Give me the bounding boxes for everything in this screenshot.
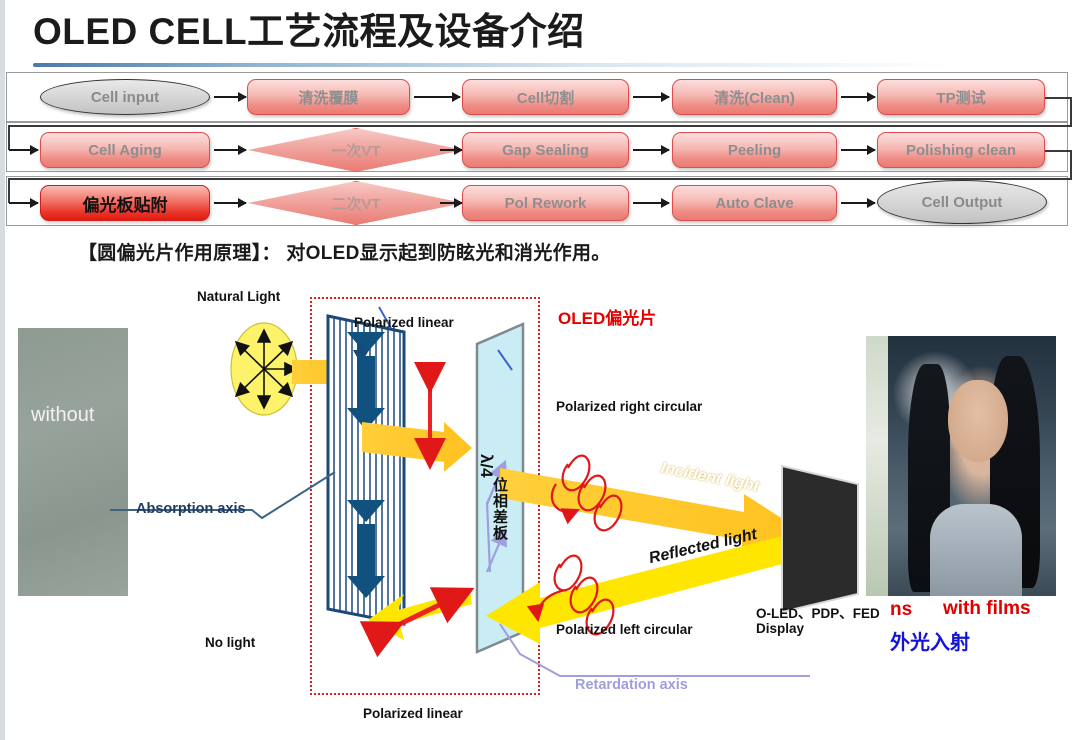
flow-node-second-vt[interactable]: 二次VT — [248, 181, 464, 225]
flow-arrow-3-3 — [633, 202, 669, 204]
label-display-word: Display — [756, 621, 804, 636]
flow-node-label: Cell Output — [922, 194, 1003, 211]
flow-arrow-2-1 — [214, 149, 246, 151]
flow-arrow-1-3 — [633, 96, 669, 98]
flow-node-label: Cell切割 — [517, 87, 575, 108]
flow-node-polarizer-attach[interactable]: 偏光板贴附 — [40, 185, 210, 221]
flow-node-label: Cell input — [91, 89, 159, 106]
flow-node-cell-output[interactable]: Cell Output — [877, 180, 1047, 224]
flow-node-label: Pol Rework — [505, 195, 587, 212]
flow-arrow-into-row2 — [9, 149, 38, 151]
flow-node-label: 清洗(Clean) — [714, 87, 795, 108]
flow-wrap-1-c — [8, 125, 1072, 127]
flow-wrap-1-b — [1070, 97, 1072, 125]
flow-wrap-2-c — [8, 178, 1072, 180]
flow-arrow-1-4 — [841, 96, 875, 98]
flow-node-gap-sealing[interactable]: Gap Sealing — [462, 132, 629, 168]
label-absorption-axis: Absorption axis — [136, 501, 246, 517]
flow-arrow-1-2 — [414, 96, 460, 98]
flow-arrow-into-row3 — [9, 202, 38, 204]
slide-root: OLED CELL工艺流程及设备介绍 Cell input 清洗覆膜 Cell切… — [0, 0, 1080, 740]
polarizer-principle-diagram: without — [0, 272, 1080, 740]
natural-light-symbol — [231, 323, 297, 415]
flow-node-label: Polishing clean — [906, 142, 1016, 159]
label-polarized-right-circular: Polarized right circular — [556, 399, 702, 414]
label-no-light: No light — [205, 635, 255, 650]
flow-node-peeling[interactable]: Peeling — [672, 132, 837, 168]
flow-node-label: Peeling — [728, 142, 781, 159]
flow-node-label: Cell Aging — [88, 142, 162, 159]
title-divider — [33, 63, 1043, 67]
flow-node-label: 一次VT — [331, 140, 380, 161]
principle-caption: 【圆偏光片作用原理】： 对OLED显示起到防眩光和消光作用。 — [78, 238, 611, 265]
label-polarized-linear-top: Polarized linear — [354, 315, 454, 330]
label-polarized-left-circular: Polarized left circular — [556, 622, 693, 637]
label-retardation-axis: Retardation axis — [575, 677, 688, 693]
flow-node-cell-aging[interactable]: Cell Aging — [40, 132, 210, 168]
label-with-films: with films — [943, 598, 1031, 620]
flow-node-label: Auto Clave — [715, 195, 793, 212]
flow-node-label: TP测试 — [936, 87, 985, 108]
display-panel — [782, 466, 858, 612]
label-external-light: 外光入射 — [890, 626, 970, 655]
flow-node-label: 偏光板贴附 — [83, 191, 168, 216]
flow-node-cell-input[interactable]: Cell input — [40, 79, 210, 115]
flow-node-tp-test[interactable]: TP测试 — [877, 79, 1045, 115]
flow-wrap-1-a — [1045, 97, 1072, 99]
flow-wrap-2-b — [1070, 150, 1072, 178]
label-without-films-tail: ns — [890, 599, 912, 621]
flow-node-label: Gap Sealing — [502, 142, 589, 159]
label-lambda-quarter: λ/4 — [476, 454, 496, 478]
linear-polarizer-plate — [328, 316, 404, 624]
flow-node-polishing-clean[interactable]: Polishing clean — [877, 132, 1045, 168]
flow-node-label: 清洗覆膜 — [298, 87, 358, 108]
label-natural-light: Natural Light — [197, 289, 280, 304]
flow-node-auto-clave[interactable]: Auto Clave — [672, 185, 837, 221]
flow-arrow-3-4 — [841, 202, 875, 204]
flow-wrap-2-a — [1045, 150, 1072, 152]
label-polarized-linear-bottom: Polarized linear — [363, 706, 463, 721]
flow-arrow-2-3 — [633, 149, 669, 151]
label-display-types: O-LED、PDP、FED — [756, 602, 880, 622]
flow-node-label: 二次VT — [331, 193, 380, 214]
flow-node-pol-rework[interactable]: Pol Rework — [462, 185, 629, 221]
flow-arrow-2-2 — [440, 149, 462, 151]
page-title: OLED CELL工艺流程及设备介绍 — [33, 6, 933, 58]
flow-arrow-2-4 — [841, 149, 875, 151]
process-flow-chart: Cell input 清洗覆膜 Cell切割 清洗(Clean) TP测试 Ce… — [0, 72, 1080, 240]
flow-node-clean[interactable]: 清洗(Clean) — [672, 79, 837, 115]
flow-node-cell-cutting[interactable]: Cell切割 — [462, 79, 629, 115]
flow-wrap-2-d — [8, 178, 10, 203]
label-retarder-cn: 位相差板 — [489, 477, 510, 541]
flow-arrow-3-2 — [440, 202, 462, 204]
flow-arrow-3-1 — [214, 202, 246, 204]
flow-wrap-1-d — [8, 125, 10, 150]
flow-node-first-vt[interactable]: 一次VT — [248, 128, 464, 172]
flow-arrow-1-1 — [214, 96, 246, 98]
label-oled-polarizer: OLED偏光片 — [558, 304, 656, 329]
flow-node-cleaning-film[interactable]: 清洗覆膜 — [247, 79, 410, 115]
